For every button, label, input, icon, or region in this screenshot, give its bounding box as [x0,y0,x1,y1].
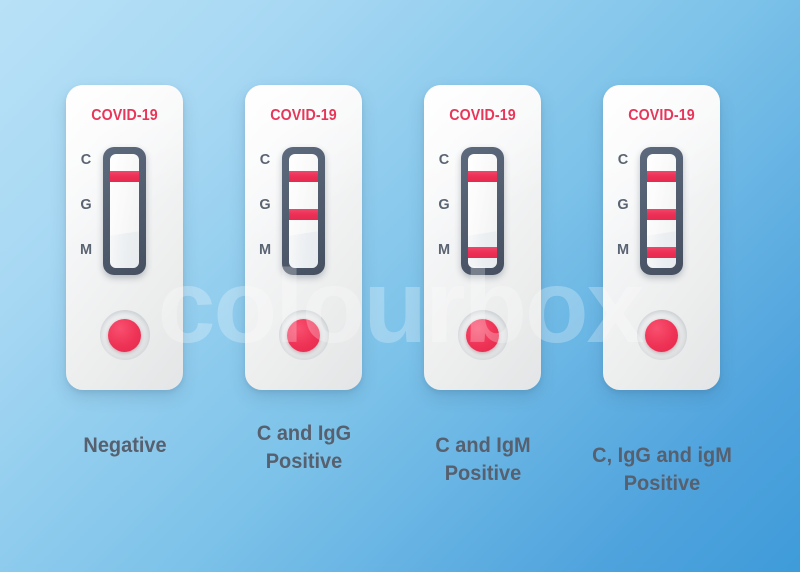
marker-labels-4: C G M [612,153,634,257]
caption-3: C and IgM Positive [393,432,574,487]
sample-well-4[interactable] [637,310,687,360]
test-cassette-1[interactable]: COVID-19 C G M [66,85,183,390]
caption-3-line-2: Positive [393,460,574,488]
brand-label-4: COVID-19 [608,107,716,125]
marker-label-m: M [617,243,629,258]
test-strip-1 [110,154,139,268]
test-cassette-2[interactable]: COVID-19 C G M [245,85,362,390]
caption-1: Negative [35,432,216,460]
brand-label-3: COVID-19 [429,107,537,125]
caption-2: C and IgG Positive [214,420,395,475]
result-window-3 [461,147,504,275]
caption-4-line-2: Positive [572,470,753,498]
test-strip-2 [289,154,318,268]
band-g-4 [647,209,676,220]
test-cassette-4[interactable]: COVID-19 C G M [603,85,720,390]
marker-label-c: C [618,153,628,168]
marker-labels-2: C G M [254,153,276,257]
marker-labels-1: C G M [75,153,97,257]
marker-label-g: G [617,198,628,213]
marker-label-m: M [259,243,271,258]
marker-label-c: C [439,153,449,168]
caption-4: C, IgG and igM Positive [572,442,753,497]
sample-well-1[interactable] [100,310,150,360]
band-g-2 [289,209,318,220]
band-c-1 [110,171,139,182]
result-window-4 [640,147,683,275]
band-c-2 [289,171,318,182]
sample-drop-icon-3 [466,319,499,352]
sample-well-3[interactable] [458,310,508,360]
band-m-4 [647,247,676,258]
marker-label-c: C [260,153,270,168]
marker-label-g: G [259,198,270,213]
marker-labels-3: C G M [433,153,455,257]
test-cassette-3[interactable]: COVID-19 C G M [424,85,541,390]
sample-drop-icon-1 [108,319,141,352]
marker-label-g: G [80,198,91,213]
band-m-3 [468,247,497,258]
sample-drop-icon-4 [645,319,678,352]
sample-well-2[interactable] [279,310,329,360]
caption-2-line-1: C and IgG [214,420,395,448]
result-window-2 [282,147,325,275]
sample-drop-icon-2 [287,319,320,352]
caption-2-line-2: Positive [214,448,395,476]
marker-label-g: G [438,198,449,213]
test-strip-3 [468,154,497,268]
brand-label-1: COVID-19 [71,107,179,125]
marker-label-m: M [80,243,92,258]
caption-4-line-1: C, IgG and igM [572,442,753,470]
result-window-1 [103,147,146,275]
marker-label-c: C [81,153,91,168]
band-c-4 [647,171,676,182]
brand-label-2: COVID-19 [250,107,358,125]
caption-1-line-1: Negative [35,432,216,460]
infographic-canvas: COVID-19 C G M COVID-19 C G [0,0,800,572]
marker-label-m: M [438,243,450,258]
caption-3-line-1: C and IgM [393,432,574,460]
test-cassette-row: COVID-19 C G M COVID-19 C G [0,0,800,400]
test-strip-4 [647,154,676,268]
band-c-3 [468,171,497,182]
